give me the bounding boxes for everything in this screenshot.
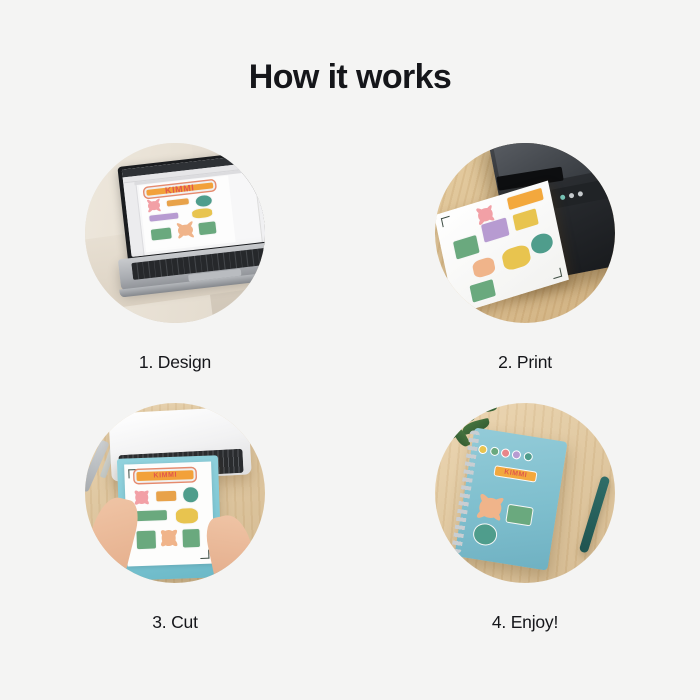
bead-flower-teal xyxy=(523,451,533,461)
page-title: How it works xyxy=(0,58,700,97)
grid-sticker-green xyxy=(135,530,156,551)
laptop-screen: KIMMI xyxy=(121,152,265,258)
flower-sticker xyxy=(147,201,160,211)
text-sticker-orange xyxy=(155,489,178,502)
app-right-panel xyxy=(253,166,265,243)
kimmi-wordmark-sticker: KIMMI xyxy=(135,468,196,483)
grid-sticker-green xyxy=(505,503,534,526)
blob-sticker-yellow xyxy=(500,242,533,272)
cake-sticker-green xyxy=(468,277,497,303)
step-2-image xyxy=(435,143,615,323)
step-2-print: 2. Print xyxy=(350,143,700,403)
cake-sticker-green xyxy=(181,528,201,549)
registration-mark-top-left xyxy=(441,216,451,227)
sticker-sheet: KIMMI xyxy=(124,462,214,567)
text-sticker-yellow xyxy=(512,207,541,232)
aesthetic-banner-sticker xyxy=(477,441,537,465)
printer-led-ink xyxy=(577,191,583,197)
sticker-artwork: KIMMI xyxy=(138,176,236,252)
step-3-image: KIMMI xyxy=(85,403,265,583)
registration-mark-bottom-right xyxy=(552,267,562,278)
text-sticker-purple xyxy=(148,212,180,223)
text-sticker-green xyxy=(135,509,168,522)
grid-sticker-green xyxy=(452,234,481,261)
printer-led-power xyxy=(560,194,566,200)
step-4-image: KIMMI xyxy=(435,403,615,583)
printer-led-status xyxy=(568,192,574,198)
bead-check-green xyxy=(489,446,499,456)
badge-sticker-teal xyxy=(182,486,199,503)
bead-flower-purple xyxy=(511,450,521,460)
blob-sticker-peach xyxy=(471,255,497,280)
bead-heart-pink xyxy=(500,448,510,458)
step-4-label: 4. Enjoy! xyxy=(492,612,558,633)
flower-sticker-peach xyxy=(177,224,193,236)
cake-sticker-green xyxy=(197,220,218,236)
sticker-artwork: KIMMI xyxy=(124,462,214,567)
design-canvas: KIMMI xyxy=(138,176,236,252)
steps-grid: KIMMI xyxy=(0,143,700,663)
badge-sticker-teal xyxy=(194,194,214,209)
badge-sticker-teal xyxy=(528,230,555,257)
blob-sticker-yellow xyxy=(174,507,199,525)
flower-sticker-peach xyxy=(478,496,503,519)
bead-flower-yellow xyxy=(478,444,488,454)
step-3-cut: KIMMI xyxy=(0,403,350,663)
step-1-label: 1. Design xyxy=(139,352,211,373)
grid-sticker-green xyxy=(149,227,172,242)
flower-sticker-pink xyxy=(136,490,149,504)
laptop: KIMMI xyxy=(117,148,265,310)
spiral-notebook: KIMMI xyxy=(454,427,567,570)
step-1-image: KIMMI xyxy=(85,143,265,323)
kimmi-wordmark-sticker: KIMMI xyxy=(493,464,537,482)
step-2-label: 2. Print xyxy=(498,352,552,373)
flower-sticker-peach xyxy=(161,530,176,547)
text-sticker-orange xyxy=(165,198,189,209)
step-3-label: 3. Cut xyxy=(152,612,198,633)
blob-sticker-yellow xyxy=(190,207,214,221)
badge-sticker-teal xyxy=(471,522,498,548)
how-it-works-page: How it works xyxy=(0,0,700,700)
step-1-design: KIMMI xyxy=(0,143,350,403)
step-4-enjoy: KIMMI 4. Enjoy! xyxy=(350,403,700,663)
